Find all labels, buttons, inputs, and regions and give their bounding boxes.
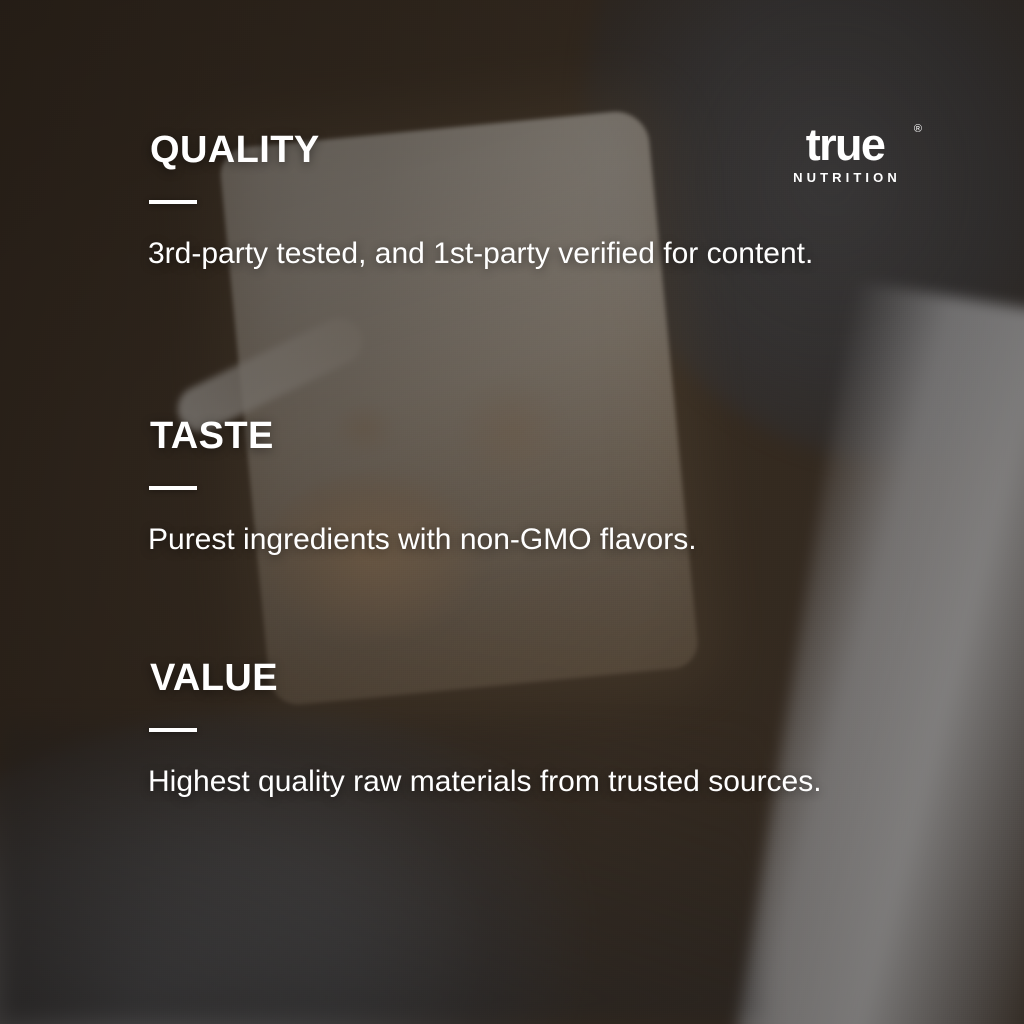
section-heading: TASTE bbox=[150, 414, 1024, 458]
section-divider-rule bbox=[149, 728, 197, 732]
section-divider-rule bbox=[149, 486, 197, 490]
section-body-text: 3rd-party tested, and 1st-party verified… bbox=[148, 234, 868, 274]
section-quality: QUALITY 3rd-party tested, and 1st-party … bbox=[0, 128, 1024, 274]
section-taste: TASTE Purest ingredients with non-GMO fl… bbox=[0, 414, 1024, 560]
section-value: VALUE Highest quality raw materials from… bbox=[0, 656, 1024, 802]
section-divider-rule bbox=[149, 200, 197, 204]
section-heading: QUALITY bbox=[150, 128, 1024, 172]
promo-poster: true® NUTRITION QUALITY 3rd-party tested… bbox=[0, 0, 1024, 1024]
section-heading: VALUE bbox=[150, 656, 1024, 700]
overlay-content: true® NUTRITION QUALITY 3rd-party tested… bbox=[0, 0, 1024, 1024]
section-body-text: Purest ingredients with non-GMO flavors. bbox=[148, 520, 868, 560]
section-body-text: Highest quality raw materials from trust… bbox=[148, 762, 868, 802]
